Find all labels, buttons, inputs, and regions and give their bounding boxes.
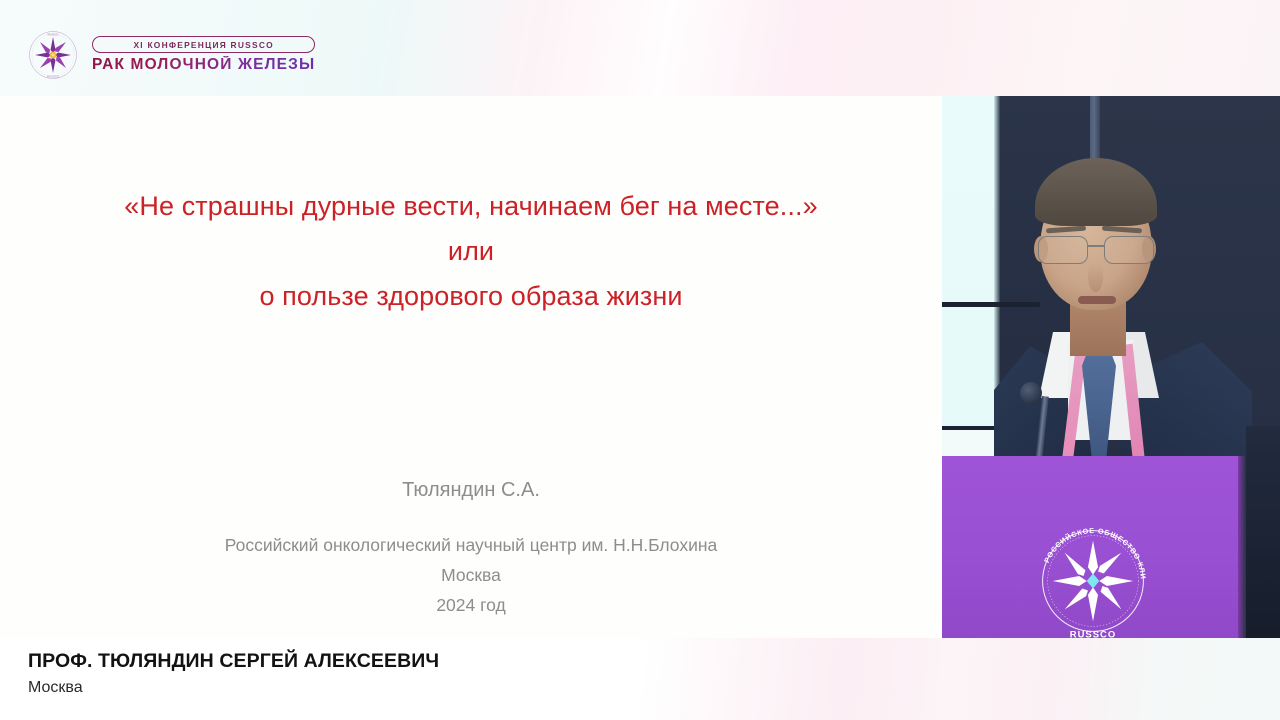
conference-header-bar: RUSSCO RUSSCO XI КОНФЕРЕНЦИЯ RUSSCO РАК …: [0, 0, 1280, 96]
slide-affiliation-block: Российский онкологический научный центр …: [0, 530, 942, 620]
microphone-boom-arm: [942, 302, 1040, 307]
conference-badge-label: XI КОНФЕРЕНЦИЯ RUSSCO: [92, 36, 315, 53]
lower-third-speaker-name: ПРОФ. ТЮЛЯНДИН СЕРГЕЙ АЛЕКСЕЕВИЧ: [28, 650, 439, 673]
speaker-video-feed[interactable]: РОССИЙСКОЕ ОБЩЕСТВО КЛИНИЧЕСКОЙ ОНКОЛОГИ…: [942, 96, 1280, 638]
slide-author-name: Тюляндин С.А.: [0, 476, 942, 504]
podium-right-edge: [1238, 456, 1246, 638]
speaker-nose: [1088, 262, 1103, 292]
speaker-lower-third-bar: ПРОФ. ТЮЛЯНДИН СЕРГЕЙ АЛЕКСЕЕВИЧ Москва: [0, 638, 1280, 720]
slide-title-line-3: о пользе здорового образа жизни: [24, 274, 918, 319]
presentation-viewer: RUSSCO RUSSCO XI КОНФЕРЕНЦИЯ RUSSCO РАК …: [0, 0, 1280, 720]
slide-title-line-1: «Не страшны дурные вести, начинаем бег н…: [24, 184, 918, 229]
slide-year: 2024 год: [0, 590, 942, 620]
conference-title-label: РАК МОЛОЧНОЙ ЖЕЛЕЗЫ: [92, 56, 315, 74]
stage-right-dark-area: [1246, 426, 1280, 638]
svg-text:РОССИЙСКОЕ ОБЩЕСТВО КЛИНИЧЕСКО: РОССИЙСКОЕ ОБЩЕСТВО КЛИНИЧЕСКОЙ ОНКОЛОГИ…: [1030, 518, 1148, 580]
speaker-mouth: [1078, 296, 1116, 304]
slide-title-line-2: или: [24, 229, 918, 274]
svg-text:RUSSCO: RUSSCO: [1070, 630, 1116, 638]
slide-city: Москва: [0, 560, 942, 590]
eyeglass-bridge: [1088, 245, 1104, 247]
eyeglass-lens-left: [1038, 236, 1088, 264]
svg-text:RUSSCO: RUSSCO: [47, 75, 59, 79]
eyeglass-lens-right: [1104, 236, 1154, 264]
conference-titles: XI КОНФЕРЕНЦИЯ RUSSCO РАК МОЛОЧНОЙ ЖЕЛЕЗ…: [92, 36, 315, 74]
conference-branding: RUSSCO RUSSCO XI КОНФЕРЕНЦИЯ RUSSCO РАК …: [28, 30, 315, 80]
podium-panel: РОССИЙСКОЕ ОБЩЕСТВО КЛИНИЧЕСКОЙ ОНКОЛОГИ…: [942, 456, 1242, 638]
microphone-capsule: [1020, 382, 1042, 404]
russco-star-emblem-icon: RUSSCO RUSSCO: [28, 30, 78, 80]
russco-podium-logo-icon: РОССИЙСКОЕ ОБЩЕСТВО КЛИНИЧЕСКОЙ ОНКОЛОГИ…: [1030, 518, 1156, 638]
lower-third-speaker-city: Москва: [28, 679, 83, 697]
slide-title: «Не страшны дурные вести, начинаем бег н…: [0, 184, 942, 319]
slide-canvas[interactable]: «Не страшны дурные вести, начинаем бег н…: [0, 96, 942, 638]
svg-text:RUSSCO: RUSSCO: [48, 34, 59, 37]
slide-affiliation: Российский онкологический научный центр …: [0, 530, 942, 560]
